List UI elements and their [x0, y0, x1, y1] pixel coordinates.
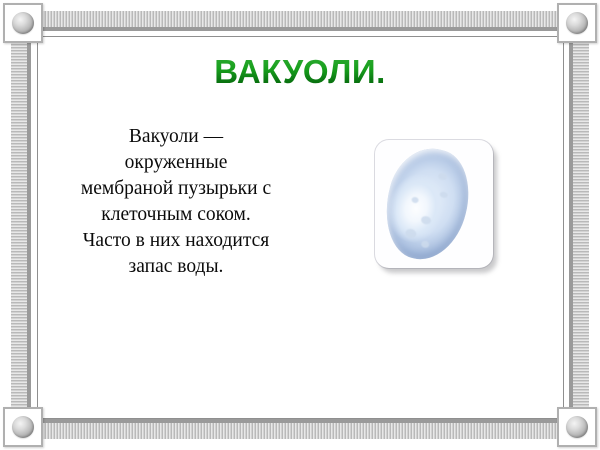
bolt-icon	[12, 416, 34, 438]
vacuole-illustration	[375, 140, 500, 275]
vacuole-shape	[375, 140, 480, 268]
body-line: окруженные	[36, 150, 316, 176]
slide: ВАКУОЛИ. Вакуоли — окруженные мембраной …	[0, 0, 600, 450]
frame-bar-right	[569, 36, 589, 414]
body-line: Часто в них находится	[36, 228, 316, 254]
body-line: запас воды.	[36, 254, 316, 280]
frame-corner-bottom-right	[557, 407, 597, 447]
slide-title: ВАКУОЛИ.	[0, 55, 600, 88]
vacuole-speck	[411, 196, 419, 204]
body-line: клеточным соком.	[36, 202, 316, 228]
vacuole-speck	[439, 191, 448, 199]
frame-corner-top-right	[557, 3, 597, 43]
illustration-card	[375, 140, 493, 268]
body-line: Вакуоли —	[36, 124, 316, 150]
bolt-icon	[566, 416, 588, 438]
vacuole-speck	[437, 172, 447, 181]
vacuole-speck	[420, 215, 432, 225]
frame-corner-top-left	[3, 3, 43, 43]
vacuole-speck	[420, 240, 429, 249]
bolt-icon	[566, 12, 588, 34]
frame-corner-bottom-left	[3, 407, 43, 447]
vacuole-speck	[404, 228, 417, 239]
frame-bar-left	[11, 36, 31, 414]
body-line: мембраной пузырьки с	[36, 176, 316, 202]
frame-bar-top	[36, 11, 564, 31]
slide-body-text: Вакуоли — окруженные мембраной пузырьки …	[36, 124, 316, 280]
bolt-icon	[12, 12, 34, 34]
frame-bar-bottom	[36, 419, 564, 439]
